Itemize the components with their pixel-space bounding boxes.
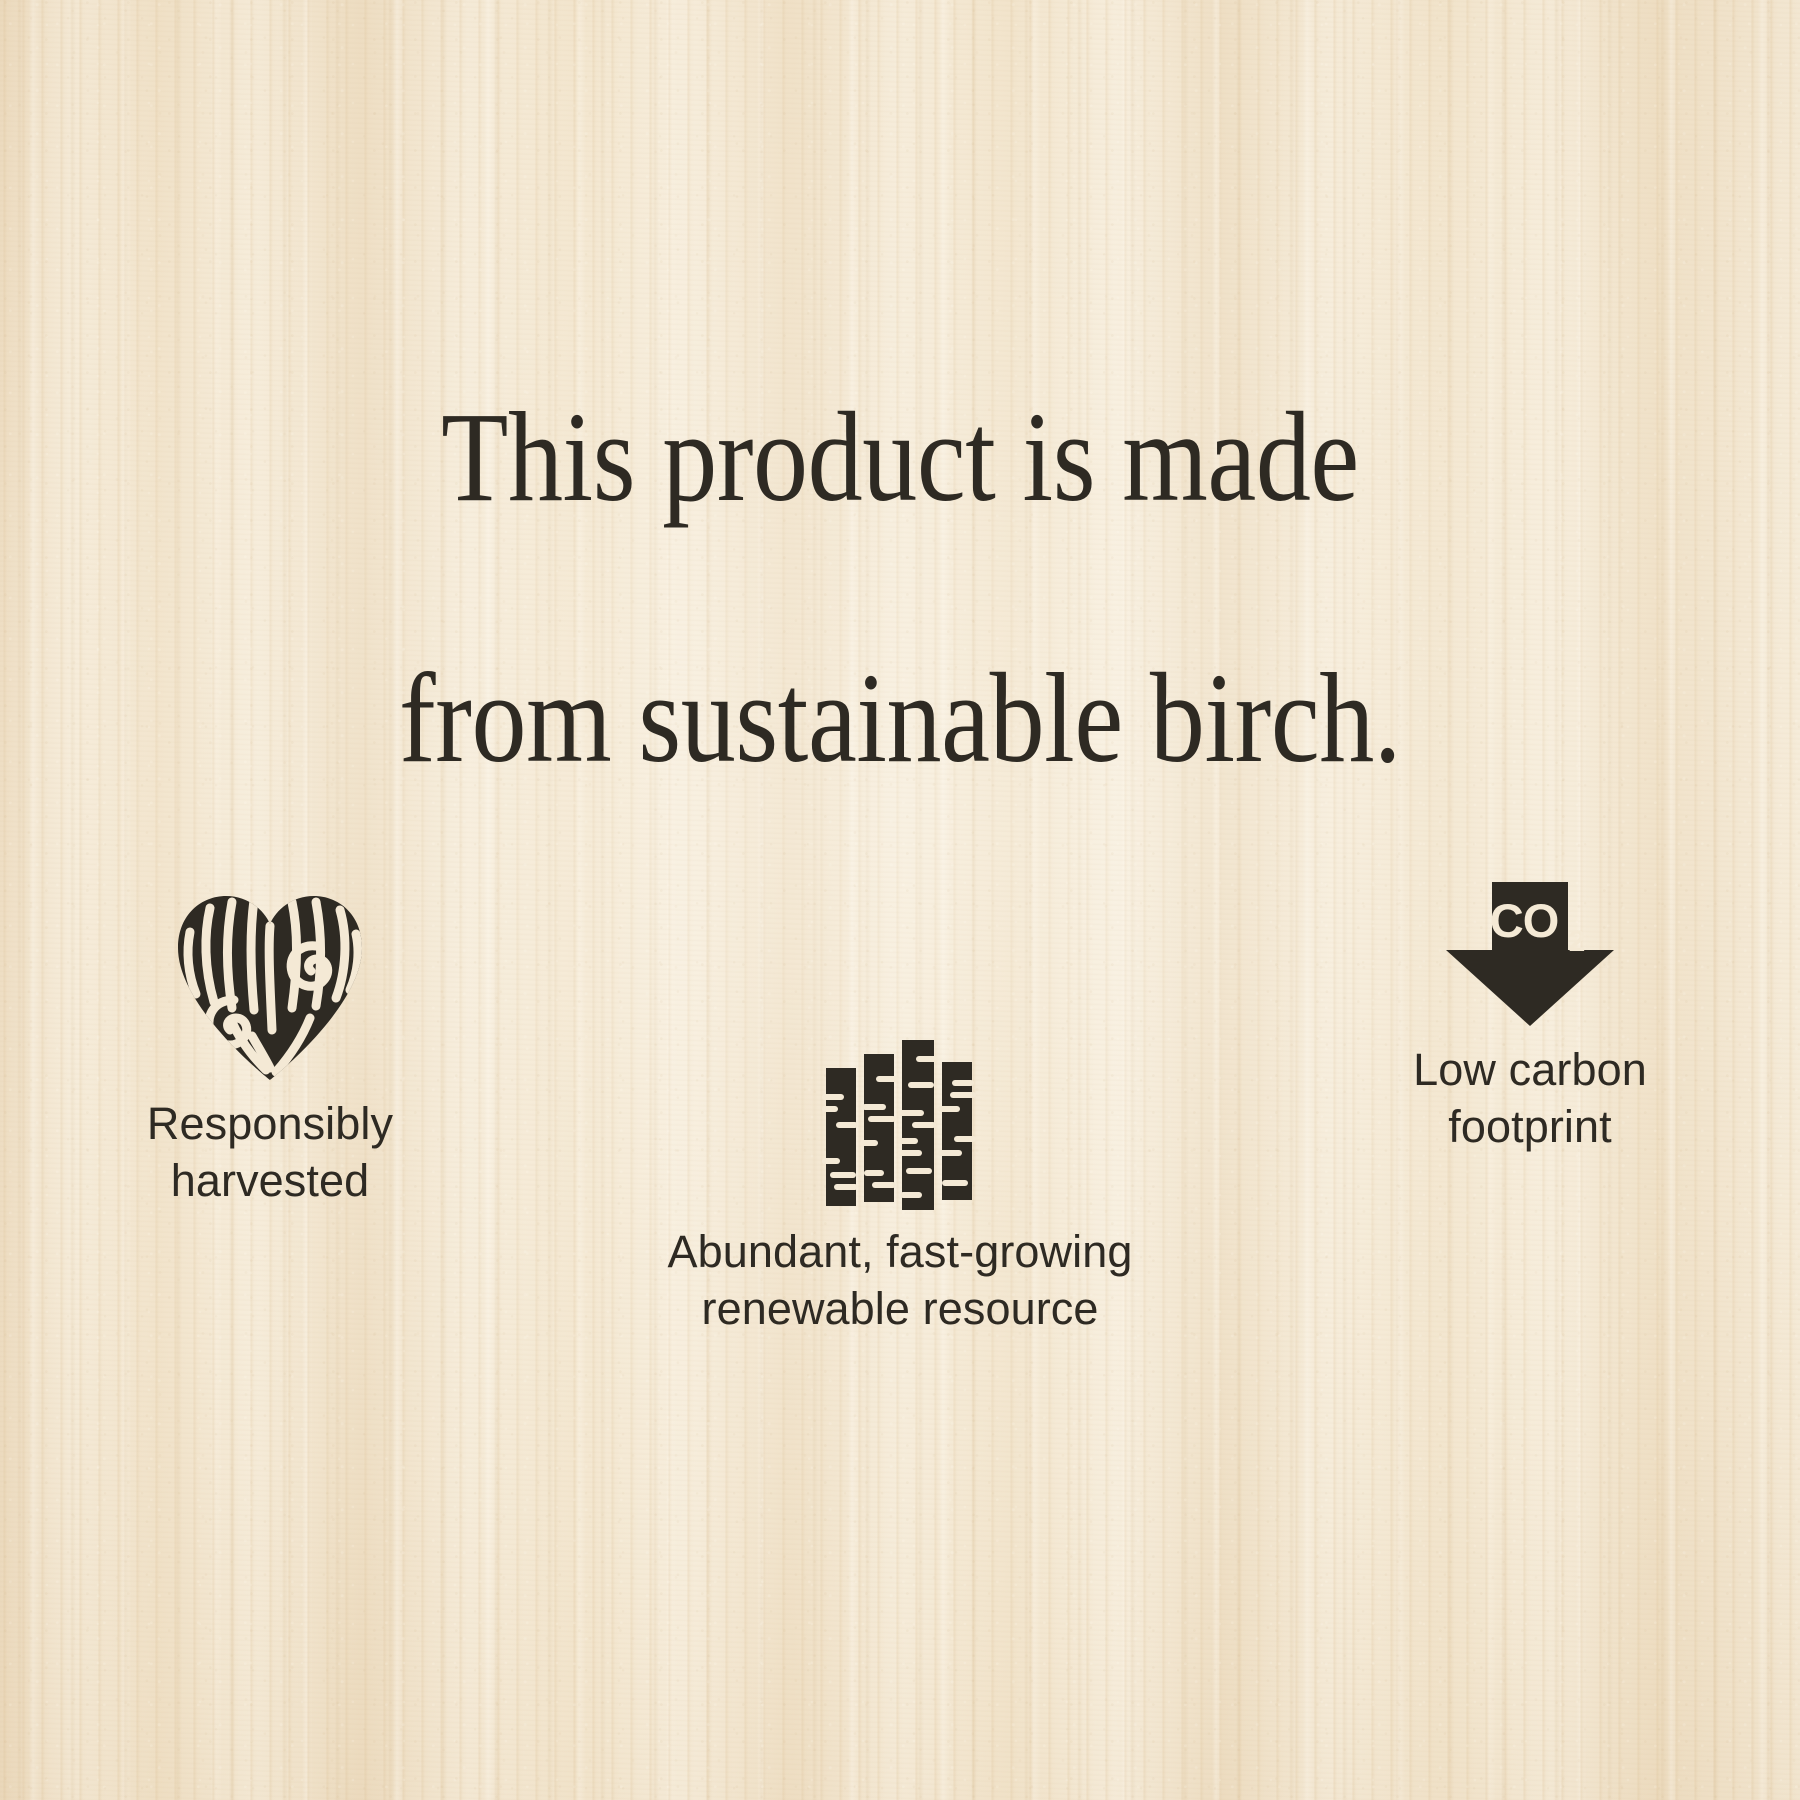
co2-icon-subscript: 2 — [1569, 925, 1586, 958]
feature-abundant-renewable: Abundant, fast-growing renewable resourc… — [600, 1038, 1200, 1337]
co2-down-arrow-icon: CO 2 — [1444, 880, 1616, 1028]
feature-low-carbon-footprint: CO 2 Low carbon footprint — [1330, 880, 1730, 1155]
birch-trunks-icon — [820, 1038, 980, 1210]
headline: This product is made from sustainable bi… — [126, 392, 1674, 784]
feature-label-low-carbon-footprint: Low carbon footprint — [1330, 1042, 1730, 1155]
headline-line-1: This product is made — [126, 392, 1674, 523]
feature-label-responsibly-harvested: Responsibly harvested — [70, 1096, 470, 1209]
feature-label-abundant-renewable: Abundant, fast-growing renewable resourc… — [600, 1224, 1200, 1337]
feature-list: Responsibly harvested — [0, 880, 1800, 1360]
co2-icon-label: CO — [1490, 894, 1559, 947]
wood-grain-heart-icon — [170, 890, 370, 1082]
product-sustainability-poster: This product is made from sustainable bi… — [0, 0, 1800, 1800]
feature-responsibly-harvested: Responsibly harvested — [70, 890, 470, 1209]
poster-content: This product is made from sustainable bi… — [0, 0, 1800, 1800]
headline-line-2: from sustainable birch. — [126, 653, 1674, 784]
